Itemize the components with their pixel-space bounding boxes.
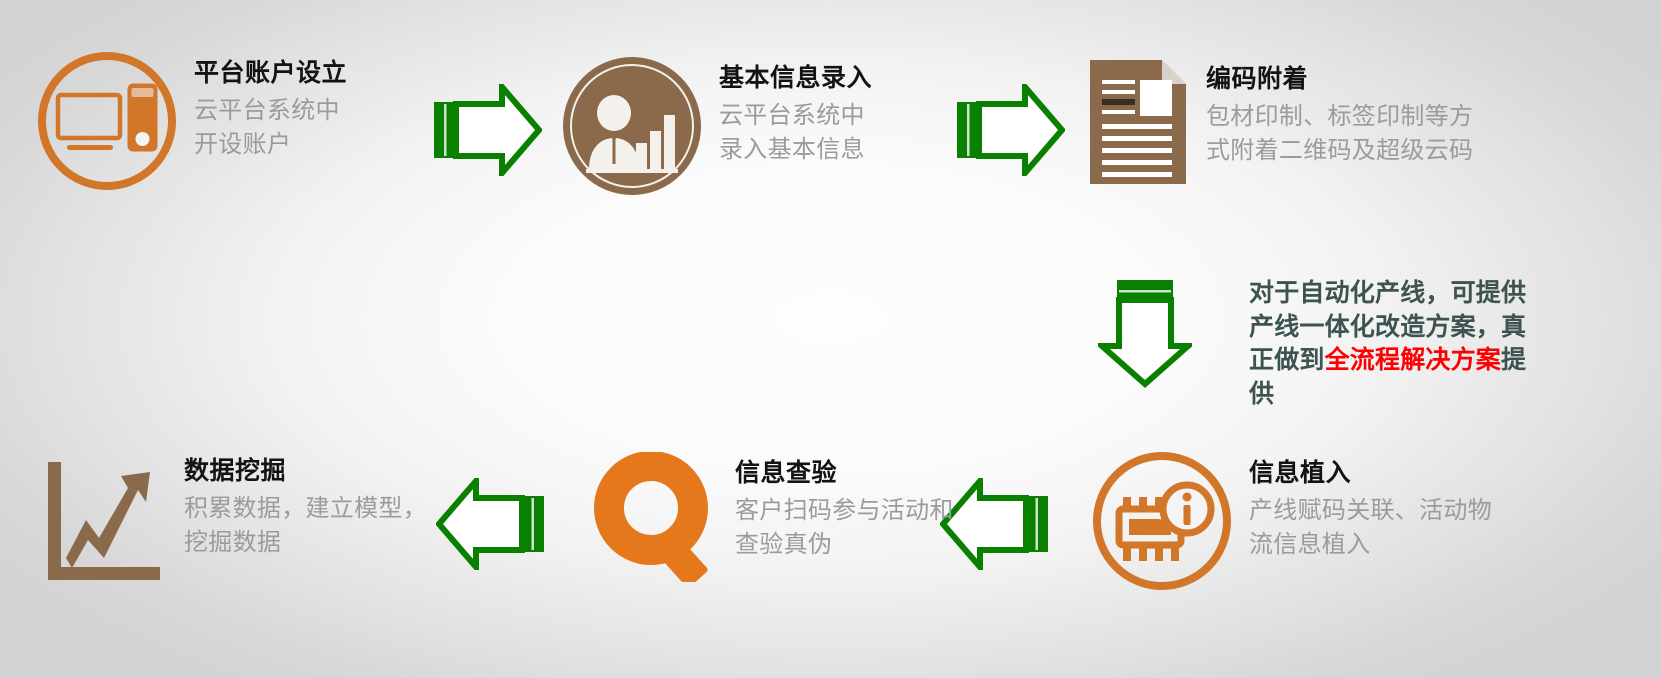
person-bar-chart-icon xyxy=(563,57,701,195)
note-highlight: 全流程解决方案 xyxy=(1325,346,1501,374)
chip-info-icon-wrap xyxy=(1093,452,1231,590)
arrow-step5-to-step6 xyxy=(436,478,546,575)
magnifier-icon-wrap xyxy=(593,452,717,587)
step-platform-account-setup[interactable]: 平台账户设立 云平台系统中 开设账户 xyxy=(38,52,347,190)
growth-chart-icon xyxy=(42,450,166,582)
step-data-mining[interactable]: 数据挖掘 积累数据，建立模型， 挖掘数据 xyxy=(42,450,427,587)
right-arrow-icon xyxy=(955,84,1065,176)
chip-info-glyph xyxy=(1109,473,1215,569)
step-title: 信息植入 xyxy=(1249,458,1492,490)
step-title: 信息查验 xyxy=(735,458,954,490)
step-description: 客户扫码参与活动和 查验真伪 xyxy=(735,494,954,564)
desktop-computer-icon xyxy=(38,52,176,190)
step-title: 平台账户设立 xyxy=(194,58,347,90)
desktop-computer-icon-wrap xyxy=(38,52,176,190)
step-code-attachment[interactable]: 编码附着 包材印制、标签印制等方 式附着二维码及超级云码 xyxy=(1088,58,1473,191)
step-text-block: 信息植入 产线赋码关联、活动物 流信息植入 xyxy=(1249,452,1492,563)
step-text-block: 平台账户设立 云平台系统中 开设账户 xyxy=(194,52,347,163)
person-bar-chart-icon-wrap xyxy=(563,57,701,195)
document-icon xyxy=(1088,58,1188,186)
chip-info-icon xyxy=(1093,452,1231,590)
step-text-block: 信息查验 客户扫码参与活动和 查验真伪 xyxy=(735,452,954,563)
down-arrow-icon xyxy=(1098,278,1192,388)
step-description: 云平台系统中 录入基本信息 xyxy=(719,99,872,169)
growth-chart-icon-wrap xyxy=(42,450,166,587)
magnifier-icon xyxy=(593,452,717,582)
step-basic-information-entry[interactable]: 基本信息录入 云平台系统中 录入基本信息 xyxy=(563,57,872,195)
arrow-step1-to-step2 xyxy=(432,84,542,181)
arrow-step2-to-step3 xyxy=(955,84,1065,181)
person-bar-chart-glyph xyxy=(584,91,680,173)
step-information-verification[interactable]: 信息查验 客户扫码参与活动和 查验真伪 xyxy=(593,452,954,587)
left-arrow-icon xyxy=(436,478,546,570)
step-information-embedding[interactable]: 信息植入 产线赋码关联、活动物 流信息植入 xyxy=(1093,452,1492,590)
step-text-block: 数据挖掘 积累数据，建立模型， 挖掘数据 xyxy=(184,450,427,561)
desktop-computer-glyph xyxy=(55,79,159,163)
step-text-block: 基本信息录入 云平台系统中 录入基本信息 xyxy=(719,57,872,168)
step-description: 包材印制、标签印制等方 式附着二维码及超级云码 xyxy=(1206,100,1473,170)
automation-line-note: 对于自动化产线，可提供产线一体化改造方案，真正做到全流程解决方案提供 xyxy=(1249,277,1549,411)
step-description: 产线赋码关联、活动物 流信息植入 xyxy=(1249,494,1492,564)
diagram-canvas: 平台账户设立 云平台系统中 开设账户 xyxy=(0,0,1661,678)
arrow-step4-to-step5 xyxy=(940,478,1050,575)
step-title: 数据挖掘 xyxy=(184,456,427,488)
step-text-block: 编码附着 包材印制、标签印制等方 式附着二维码及超级云码 xyxy=(1206,58,1473,169)
arrow-step3-to-step4 xyxy=(1098,278,1192,393)
right-arrow-icon xyxy=(432,84,542,176)
step-description: 积累数据，建立模型， 挖掘数据 xyxy=(184,492,427,562)
step-description: 云平台系统中 开设账户 xyxy=(194,94,347,164)
step-title: 编码附着 xyxy=(1206,64,1473,96)
left-arrow-icon xyxy=(940,478,1050,570)
document-icon-wrap xyxy=(1088,58,1188,191)
step-title: 基本信息录入 xyxy=(719,63,872,95)
